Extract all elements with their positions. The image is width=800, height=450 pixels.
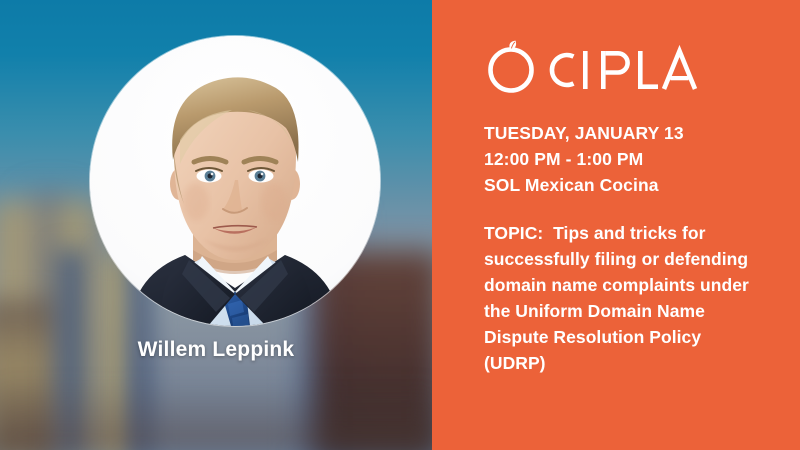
event-venue: SOL Mexican Cocina: [484, 172, 776, 198]
event-date: TUESDAY, JANUARY 13: [484, 120, 776, 146]
background-bottom-shade: [0, 380, 432, 450]
event-info-panel: TUESDAY, JANUARY 13 12:00 PM - 1:00 PM S…: [432, 0, 800, 450]
event-topic: TOPIC: Tips and tricks for successfully …: [484, 220, 756, 376]
orange-fruit-letter-o: [491, 41, 532, 91]
speaker-photo-panel: Willem Leppink: [0, 0, 432, 450]
event-announcement-slide: Willem Leppink TUESDAY, JANUARY 13: [0, 0, 800, 450]
event-time: 12:00 PM - 1:00 PM: [484, 146, 776, 172]
speaker-portrait-avatar: [90, 36, 380, 326]
portrait-illustration: [90, 36, 380, 326]
ocipla-logo: [484, 40, 702, 94]
speaker-name: Willem Leppink: [0, 338, 432, 362]
